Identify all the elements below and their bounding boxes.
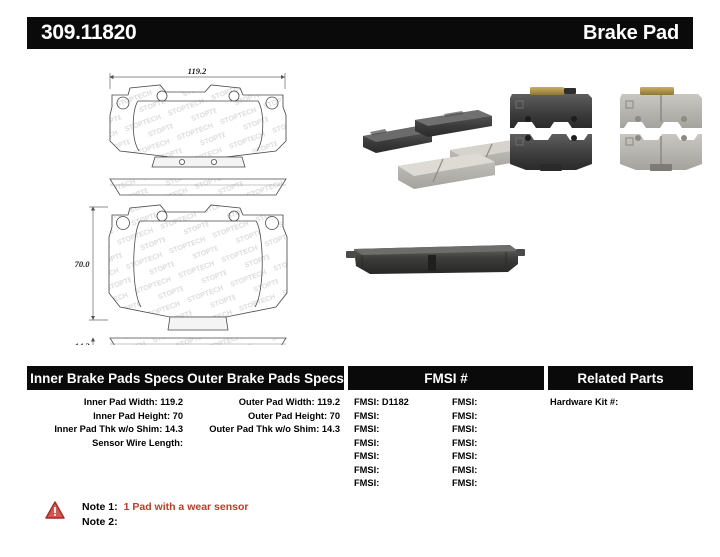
related-parts-column: Hardware Kit #:: [540, 396, 689, 491]
photo-pad-grid-group: [510, 87, 702, 171]
table-row: FMSI:: [354, 477, 442, 491]
fmsi-label: FMSI:: [354, 411, 379, 421]
column-header-inner-specs: Inner Brake Pads Specs: [27, 366, 187, 390]
angled-pad-2: [415, 110, 492, 137]
spec-label: Sensor Wire Length:: [92, 438, 183, 448]
fmsi-label: FMSI:: [452, 411, 477, 421]
table-row: Hardware Kit #:: [540, 396, 689, 410]
fmsi-label: FMSI:: [452, 397, 477, 407]
inner-specs-column: Inner Pad Width: 119.2 Inner Pad Height:…: [27, 396, 187, 491]
table-row: FMSI:: [354, 437, 442, 451]
table-row: FMSI: D1182: [354, 396, 442, 410]
grid-pad-bottom-left: [510, 134, 592, 171]
product-photos: [340, 58, 720, 348]
table-row: FMSI:: [452, 396, 540, 410]
table-row: FMSI:: [452, 423, 540, 437]
note-row: Note 1: 1 Pad with a wear sensor: [82, 500, 248, 515]
pad-edge-view-top: [110, 179, 286, 195]
spec-label: Outer Pad Height:: [248, 411, 327, 421]
table-row: Outer Pad Width: 119.2: [187, 396, 344, 410]
dimension-thickness-label: 14.3: [75, 341, 91, 345]
table-row: Outer Pad Height: 70: [187, 410, 344, 424]
fmsi-column: FMSI: D1182 FMSI: FMSI: FMSI:: [344, 396, 540, 491]
spec-value: 119.2: [317, 397, 340, 407]
table-row: Inner Pad Height: 70: [27, 410, 187, 424]
grid-pad-top-left: [510, 87, 592, 128]
table-row: Inner Pad Width: 119.2: [27, 396, 187, 410]
table-row: Sensor Wire Length:: [27, 437, 187, 451]
spec-label: Outer Pad Thk w/o Shim:: [209, 424, 319, 434]
column-header-outer-specs: Outer Brake Pads Specs: [187, 366, 344, 390]
spec-value: 14.3: [322, 424, 340, 434]
fmsi-value: D1182: [382, 397, 409, 407]
fmsi-label: FMSI:: [452, 451, 477, 461]
fmsi-label: FMSI:: [452, 438, 477, 448]
pad-edge-view-bottom: [110, 338, 286, 345]
pad-plan-view-main: [109, 205, 287, 317]
warning-icon-wrap: [27, 500, 82, 530]
table-row: Inner Pad Thk w/o Shim: 14.3: [27, 423, 187, 437]
table-row: FMSI:: [452, 437, 540, 451]
table-row: FMSI:: [354, 423, 442, 437]
spec-label: Inner Pad Height:: [93, 411, 170, 421]
fmsi-label: FMSI:: [452, 465, 477, 475]
grid-pad-top-right: [620, 87, 702, 128]
column-header-related-parts: Related Parts: [548, 366, 693, 390]
product-category: Brake Pad: [583, 22, 679, 45]
dimension-width-label: 119.2: [188, 66, 207, 76]
fmsi-label: FMSI:: [452, 478, 477, 488]
spec-label: Inner Pad Width:: [84, 397, 158, 407]
note-lines: Note 1: 1 Pad with a wear sensor Note 2:: [82, 500, 248, 530]
note-label: Note 2:: [82, 515, 118, 530]
part-number: 309.11820: [41, 21, 136, 45]
table-body: Inner Pad Width: 119.2 Inner Pad Height:…: [27, 390, 693, 491]
table-row: FMSI:: [452, 464, 540, 478]
photos-svg: [340, 58, 720, 348]
table-row: Outer Pad Thk w/o Shim: 14.3: [187, 423, 344, 437]
angled-pad-4: [398, 153, 495, 189]
table-row: FMSI:: [354, 410, 442, 424]
related-part-label: Hardware Kit #:: [550, 397, 618, 407]
note-label: Note 1:: [82, 500, 118, 515]
fmsi-subcolumn-right: FMSI: FMSI: FMSI: FMSI:: [442, 396, 540, 491]
fmsi-label: FMSI:: [452, 424, 477, 434]
drawing-svg: STOPTECH STOPTECH 119.2: [0, 55, 340, 345]
notes-section: Note 1: 1 Pad with a wear sensor Note 2:: [27, 500, 693, 530]
table-header-row: Inner Brake Pads Specs Outer Brake Pads …: [27, 366, 693, 390]
fmsi-label: FMSI:: [354, 438, 379, 448]
table-row: FMSI:: [452, 410, 540, 424]
column-header-fmsi: FMSI #: [348, 366, 544, 390]
header-bar: 309.11820 Brake Pad: [27, 17, 693, 49]
warning-triangle-icon: [45, 501, 65, 519]
spec-value: 70: [173, 411, 183, 421]
fmsi-label: FMSI:: [354, 465, 379, 475]
spec-label: Outer Pad Width:: [239, 397, 315, 407]
dimension-height: [89, 207, 108, 320]
table-row: FMSI:: [354, 450, 442, 464]
pad-top-tab: [152, 157, 245, 167]
outer-specs-column: Outer Pad Width: 119.2 Outer Pad Height:…: [187, 396, 344, 491]
spec-value: 70: [330, 411, 340, 421]
table-row: FMSI:: [354, 464, 442, 478]
fmsi-label: FMSI:: [354, 451, 379, 461]
spec-value: 119.2: [160, 397, 183, 407]
spec-value: 14.3: [165, 424, 183, 434]
note-row: Note 2:: [82, 515, 248, 530]
fmsi-label: FMSI:: [354, 424, 379, 434]
fmsi-label: FMSI:: [354, 397, 379, 407]
photo-pad-edge-view: [346, 245, 525, 274]
fmsi-label: FMSI:: [354, 478, 379, 488]
product-spec-sheet: 309.11820 Brake Pad STOPTECH STOPTECH: [0, 0, 720, 557]
table-row: FMSI:: [452, 450, 540, 464]
fmsi-subcolumn-left: FMSI: D1182 FMSI: FMSI: FMSI:: [344, 396, 442, 491]
technical-drawings: STOPTECH STOPTECH 119.2: [0, 55, 340, 345]
dimension-height-label: 70.0: [75, 259, 91, 269]
spec-label: Inner Pad Thk w/o Shim:: [54, 424, 162, 434]
note-value: 1 Pad with a wear sensor: [124, 500, 249, 515]
table-row: FMSI:: [452, 477, 540, 491]
specs-table: Inner Brake Pads Specs Outer Brake Pads …: [27, 366, 693, 491]
pad-main-tab: [168, 317, 228, 330]
grid-pad-bottom-right: [620, 134, 702, 171]
